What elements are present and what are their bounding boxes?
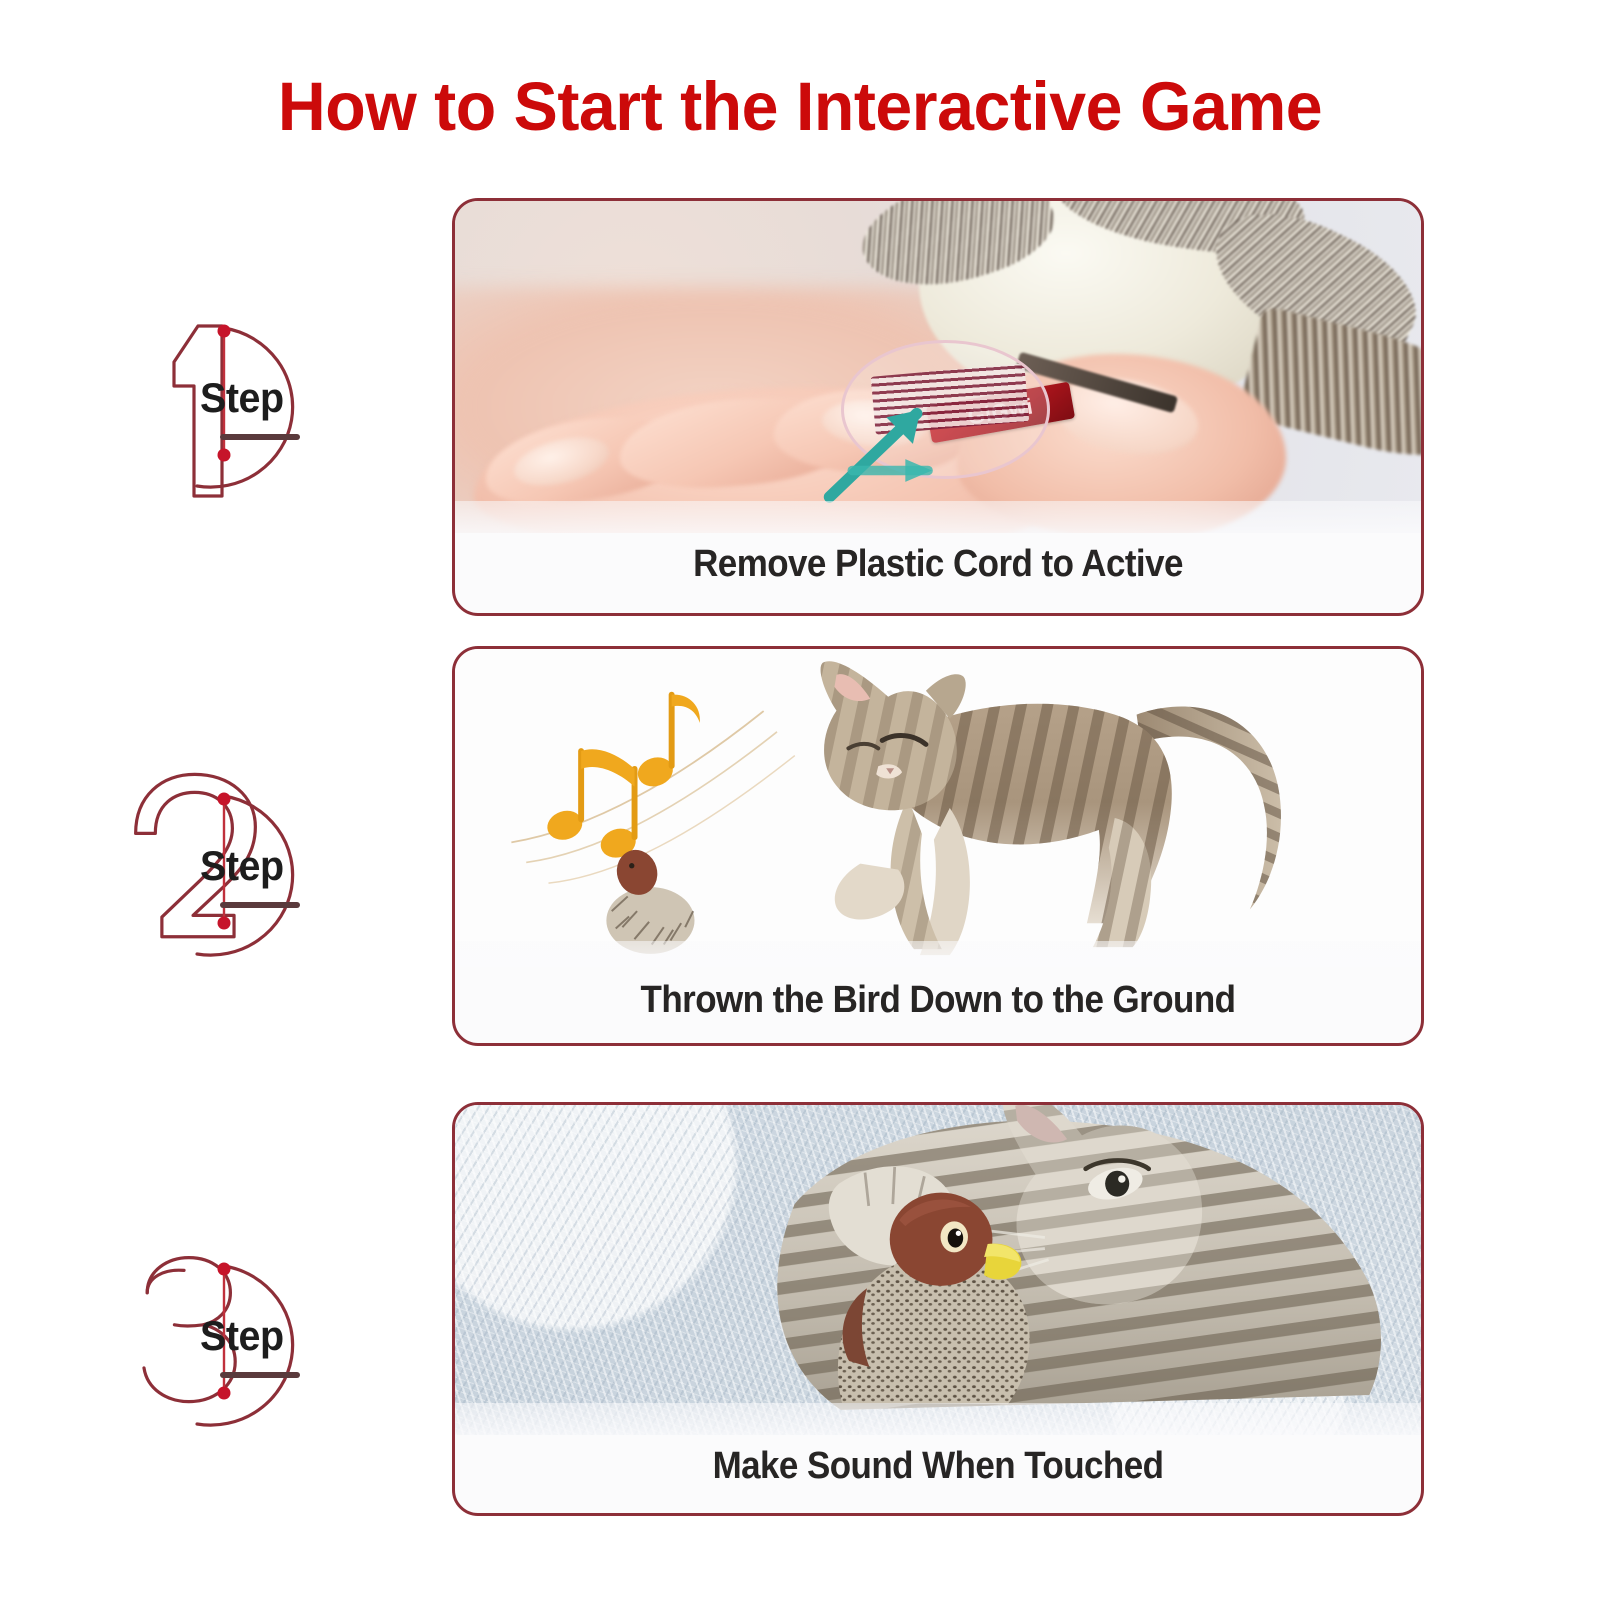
- badge-dot-bottom-icon: [218, 449, 231, 462]
- step-badge-3: Step: [112, 1238, 352, 1453]
- caption-backdrop: [455, 501, 1421, 533]
- step-2-underline: [220, 902, 300, 908]
- step-1-photo: GiGwi: [455, 201, 1421, 533]
- caption-backdrop: [455, 1403, 1421, 1435]
- step-2-panel: Thrown the Bird Down to the Ground: [452, 646, 1424, 1046]
- step-1-caption: Remove Plastic Cord to Active: [494, 543, 1383, 586]
- badge-dot-top-icon: [218, 325, 231, 338]
- badge-dot-top-icon: [218, 793, 231, 806]
- caption-backdrop: [455, 941, 1421, 967]
- pull-arrow-icon: [629, 387, 1189, 520]
- step-1-underline: [220, 434, 300, 440]
- step-1-panel: GiGwi Remove Plastic Cord to Active: [452, 198, 1424, 616]
- step-3-label: Step: [200, 1312, 284, 1360]
- step-2-label: Step: [200, 842, 284, 890]
- step-3-panel: Make Sound When Touched: [452, 1102, 1424, 1516]
- step-2-photo: [455, 649, 1421, 967]
- step-3-photo: [455, 1105, 1421, 1435]
- step-badge-2: Step: [112, 768, 352, 983]
- bird-toy-illustration: [725, 1164, 1150, 1415]
- step-badge-1: Step: [112, 300, 352, 515]
- step-3-caption: Make Sound When Touched: [494, 1445, 1383, 1488]
- step-3-underline: [220, 1372, 300, 1378]
- page-title: How to Start the Interactive Game: [32, 72, 1568, 141]
- step-2-caption: Thrown the Bird Down to the Ground: [494, 979, 1383, 1022]
- badge-dot-top-icon: [218, 1263, 231, 1276]
- badge-dot-bottom-icon: [218, 1387, 231, 1400]
- step-1-label: Step: [200, 374, 284, 422]
- badge-dot-bottom-icon: [218, 917, 231, 930]
